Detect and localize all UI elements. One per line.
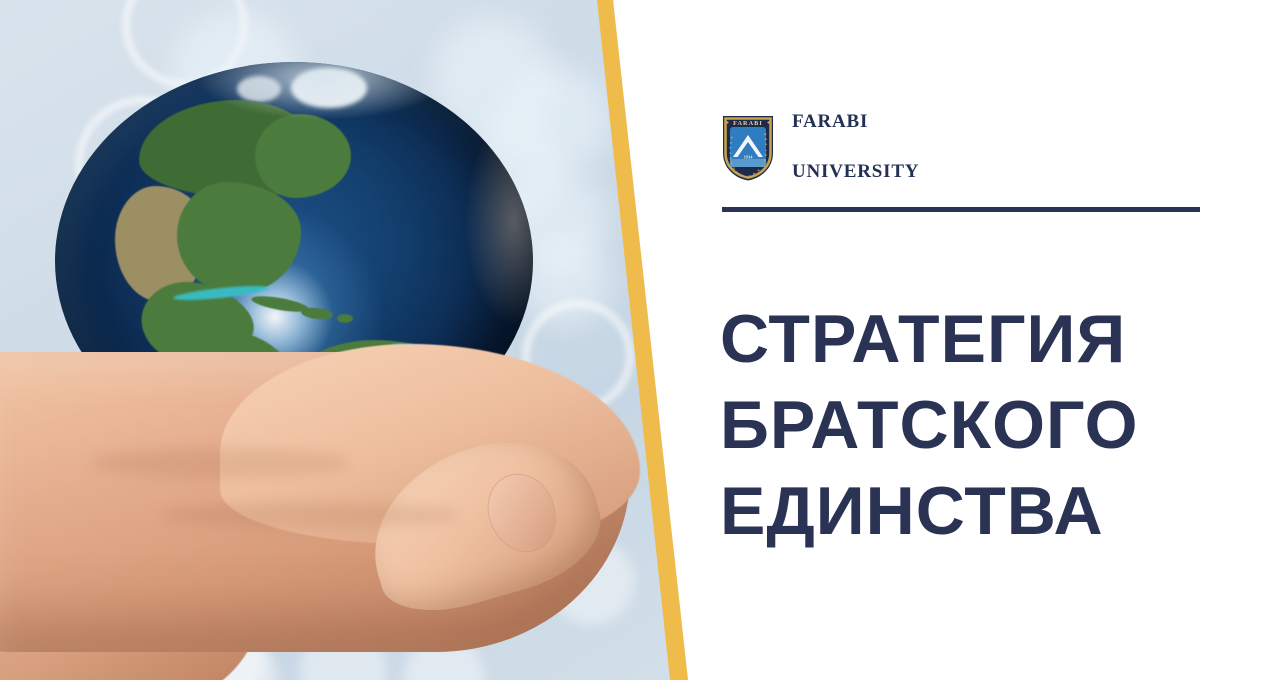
slide-title-line-1: СТРАТЕГИЯ [720,296,1260,382]
svg-text:V: V [764,143,768,145]
hero-image-panel [0,0,700,680]
slide-title-line-3: ЕДИНСТВА [720,468,1260,554]
brand-lockup: FARABI 1934 K A Z A K H N [722,84,919,209]
hand-crease [160,502,460,528]
brand-name-line-1: FARABI [792,109,919,134]
slide-title-line-2: БРАТСКОГО [720,382,1260,468]
brand-name-line-2: UNIVERSITY [792,159,919,184]
svg-text:N: N [764,153,768,156]
farabi-university-crest-icon: FARABI 1934 K A Z A K H N [722,113,774,181]
slide-title: СТРАТЕГИЯ БРАТСКОГО ЕДИНСТВА [720,296,1260,554]
svg-text:FARABI: FARABI [733,120,763,127]
divider-rule [722,207,1200,212]
brand-name: FARABI UNIVERSITY [792,84,919,209]
hand-crease [90,448,350,478]
svg-text:1934: 1934 [744,154,754,159]
presentation-slide: FARABI 1934 K A Z A K H N [0,0,1280,680]
open-palm-hand [0,352,670,680]
content-panel: FARABI 1934 K A Z A K H N [700,0,1280,680]
